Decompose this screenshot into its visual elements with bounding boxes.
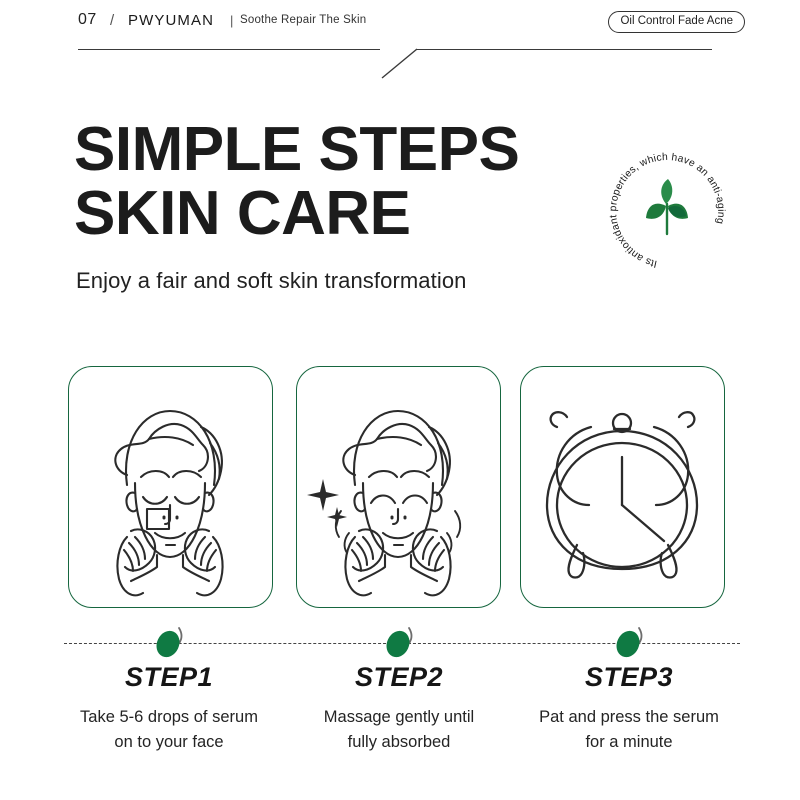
page-title: SIMPLE STEPS SKIN CARE	[74, 118, 634, 246]
panel-step-2[interactable]	[296, 366, 501, 608]
page-subtitle: Enjoy a fair and soft skin transformatio…	[76, 268, 467, 294]
step-caption: Take 5-6 drops of serum on to your face	[49, 705, 289, 755]
step-item-1: STEP1 Take 5-6 drops of serum on to your…	[49, 660, 289, 755]
step-caption-line-2: for a minute	[509, 730, 749, 755]
step-caption-line-1: Take 5-6 drops of serum	[49, 705, 289, 730]
header-divider: |	[230, 13, 233, 28]
step-caption-line-2: fully absorbed	[279, 730, 519, 755]
sparkle-icon	[307, 479, 347, 527]
step-caption: Massage gently until fully absorbed	[279, 705, 519, 755]
timeline-leaf-marker-1	[148, 622, 190, 664]
woman-applying-serum-icon	[69, 367, 272, 607]
header-separator: /	[110, 12, 114, 29]
step-caption-line-2: on to your face	[49, 730, 289, 755]
step-label: STEP3	[509, 660, 749, 694]
antioxidant-seal: Its antioxidant properties, which have a…	[608, 152, 726, 270]
panel-step-3[interactable]	[520, 366, 725, 608]
timeline-leaf-marker-2	[378, 622, 420, 664]
step-illustration-panels	[0, 366, 800, 610]
alarm-clock-icon	[521, 367, 724, 607]
header-diagonal-stroke	[380, 44, 420, 80]
benefit-badge: Oil Control Fade Acne	[608, 11, 745, 33]
header-rule-left	[78, 49, 380, 50]
title-line-1: SIMPLE STEPS	[74, 118, 634, 182]
page-number: 07	[78, 11, 97, 29]
step-label: STEP1	[49, 660, 289, 694]
step-item-3: STEP3 Pat and press the serum for a minu…	[509, 660, 749, 755]
step-caption-line-1: Pat and press the serum	[509, 705, 749, 730]
leaf-icon	[646, 179, 688, 234]
woman-massaging-face-icon	[297, 367, 500, 607]
timeline-leaf-marker-3	[608, 622, 650, 664]
page-header: 07 / PWYUMAN | Soothe Repair The Skin Oi…	[0, 0, 800, 90]
header-tagline: Soothe Repair The Skin	[240, 14, 366, 26]
step-caption: Pat and press the serum for a minute	[509, 705, 749, 755]
brand-name: PWYUMAN	[128, 12, 214, 29]
title-line-2: SKIN CARE	[74, 182, 634, 246]
step-caption-line-1: Massage gently until	[279, 705, 519, 730]
header-rule-right	[416, 49, 712, 50]
panel-step-1[interactable]	[68, 366, 273, 608]
step-item-2: STEP2 Massage gently until fully absorbe…	[279, 660, 519, 755]
step-label: STEP2	[279, 660, 519, 694]
